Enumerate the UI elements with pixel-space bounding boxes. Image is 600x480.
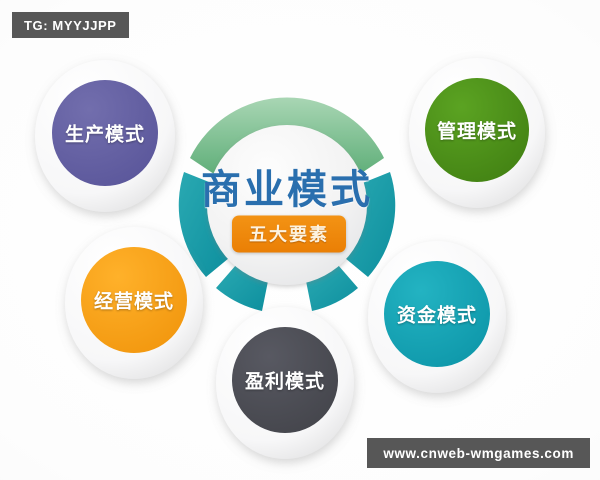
diagram-canvas: 生产模式 管理模式 经营模式 资金模式 盈利模式 商业模式 五大要素 TG: M…: [0, 0, 600, 480]
node-profit-disc: [232, 327, 338, 433]
node-operations[interactable]: [65, 227, 203, 379]
top-left-tag: TG: MYYJJPP: [12, 12, 129, 38]
node-management-disc: [425, 78, 529, 182]
node-management[interactable]: [409, 58, 545, 208]
node-production[interactable]: [35, 60, 175, 212]
center-badge: 五大要素: [232, 216, 346, 253]
node-operations-disc: [81, 247, 187, 353]
node-profit[interactable]: [216, 307, 354, 459]
node-production-disc: [52, 80, 158, 186]
node-capital[interactable]: [368, 241, 506, 393]
node-capital-disc: [384, 261, 490, 367]
center-title: 商业模式: [201, 157, 373, 215]
watermark-url: www.cnweb-wmgames.com: [367, 438, 590, 468]
